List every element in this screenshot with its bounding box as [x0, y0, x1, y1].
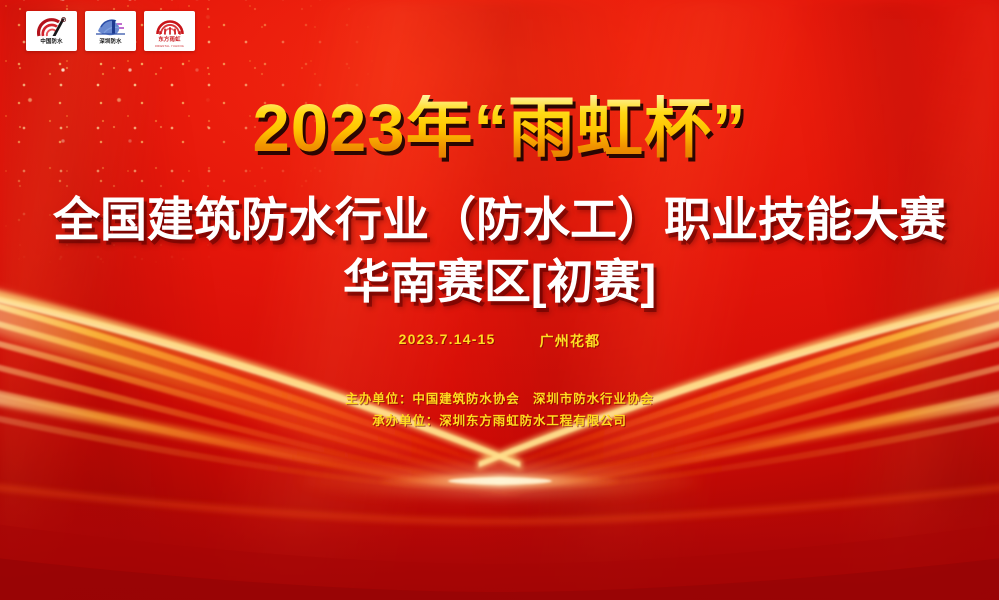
logo-caption: 东方雨虹	[158, 37, 180, 44]
logo-shenzhen-waterproof-association: 深圳防水	[85, 11, 136, 51]
svg-text:R: R	[62, 18, 64, 22]
sponsor-logo-row: R 中国防水 深圳防水	[26, 11, 195, 51]
logo-subcaption: ORIENTAL YUHONG	[155, 45, 184, 48]
poster-meta-row: 2023.7.14-15 广州花都	[0, 331, 999, 351]
logo-caption: 深圳防水	[99, 39, 121, 46]
logo-china-waterproof-association: R 中国防水	[26, 11, 77, 51]
logo-oriental-yuhong: 东方雨虹 ORIENTAL YUHONG	[144, 11, 195, 51]
event-location: 广州花都	[540, 331, 601, 351]
golden-light-ribbons	[0, 270, 999, 600]
poster-main-title: 2023年“雨虹杯”	[0, 95, 999, 162]
poster-subtitle-competition: 全国建筑防水行业（防水工）职业技能大赛	[0, 196, 999, 243]
oriental-yuhong-mark	[155, 14, 185, 37]
poster-canvas: R 中国防水 深圳防水	[0, 0, 999, 600]
china-waterproof-association-mark: R	[37, 16, 67, 39]
event-date: 2023.7.14-15	[399, 331, 496, 351]
host-line: 承办单位：深圳东方雨虹防水工程有限公司	[0, 410, 999, 429]
shenzhen-waterproof-association-mark	[95, 16, 127, 39]
organizer-line: 主办单位：中国建筑防水协会 深圳市防水行业协会	[0, 388, 999, 407]
logo-caption: 中国防水	[40, 39, 62, 46]
poster-subtitle-region: 华南赛区[初赛]	[0, 258, 999, 305]
